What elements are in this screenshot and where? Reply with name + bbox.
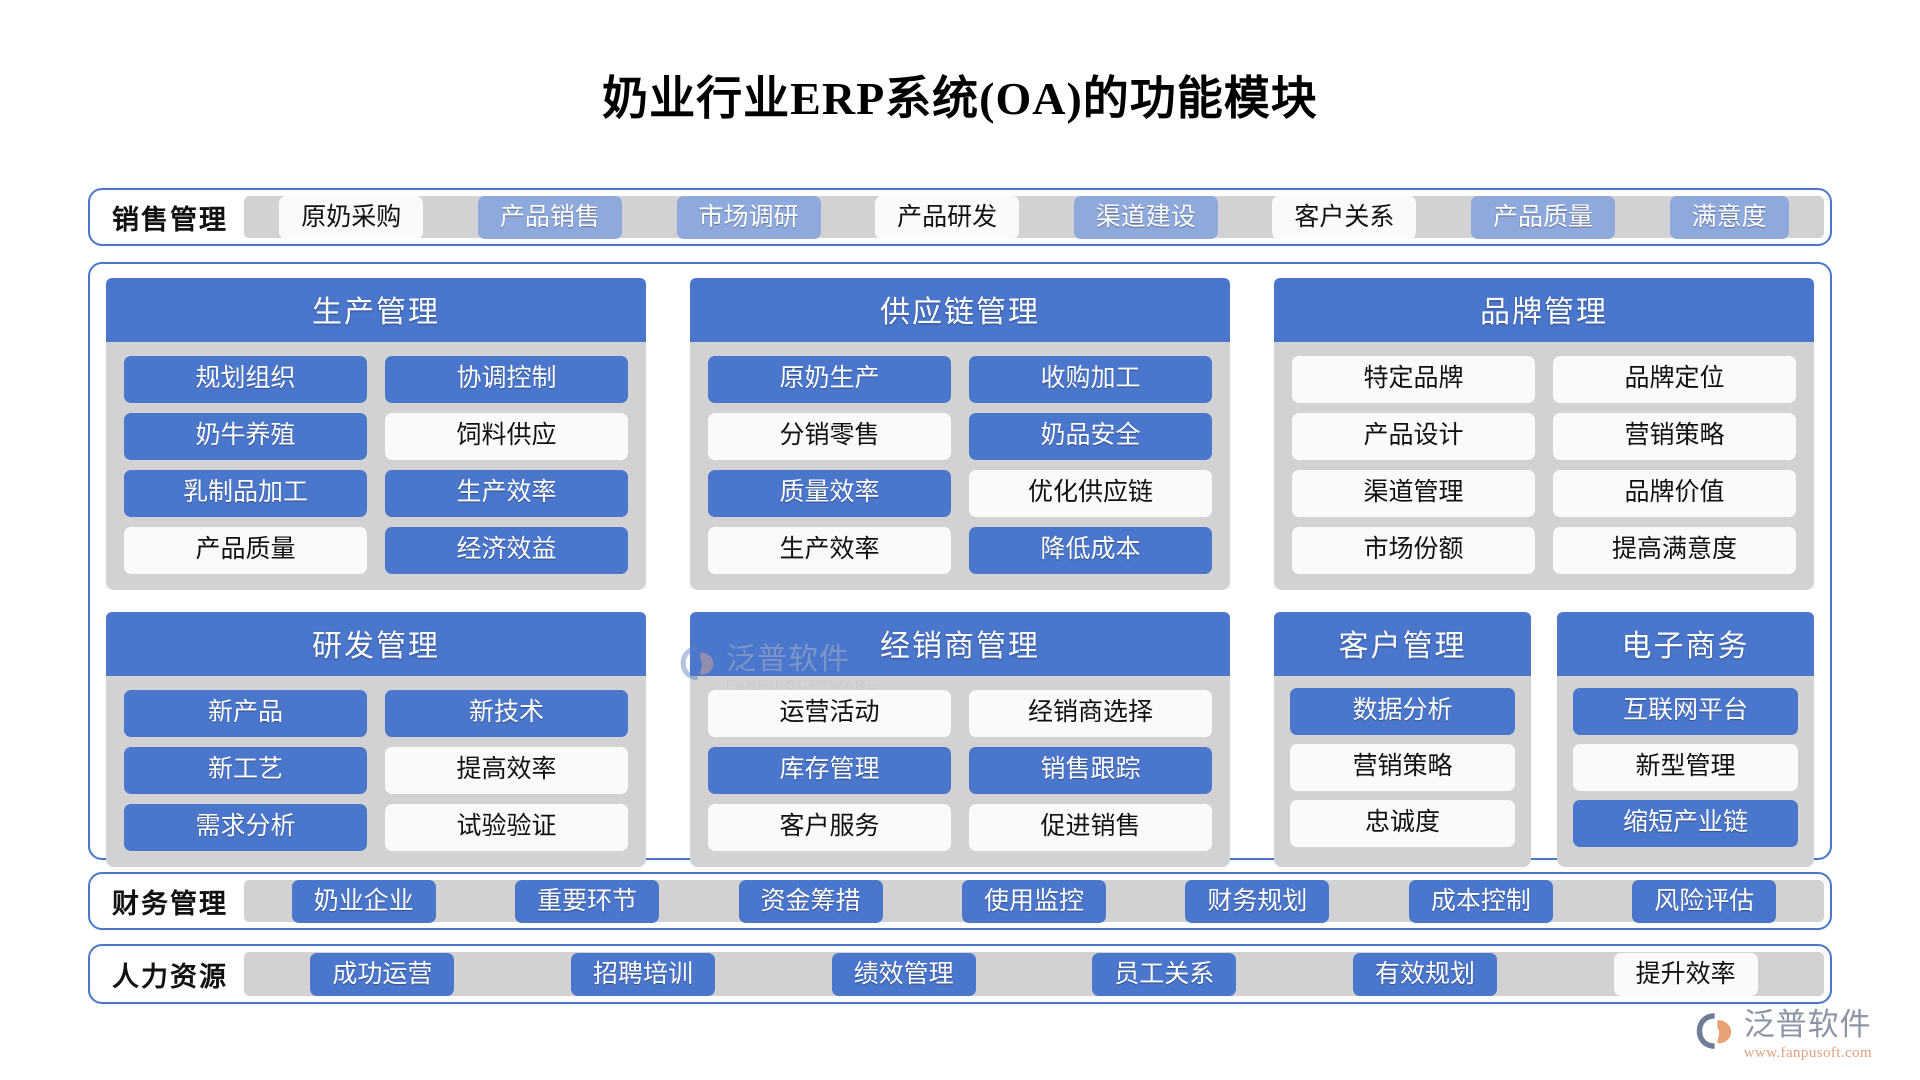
module-item[interactable]: 新产品 xyxy=(124,690,367,737)
module-item[interactable]: 运营活动 xyxy=(708,690,951,737)
chip-item[interactable]: 市场调研 xyxy=(677,196,821,239)
module-item[interactable]: 新型管理 xyxy=(1573,744,1798,791)
module-item[interactable]: 数据分析 xyxy=(1290,688,1515,735)
module-item[interactable]: 品牌价值 xyxy=(1553,470,1796,517)
module-item[interactable]: 需求分析 xyxy=(124,804,367,851)
module-item[interactable]: 新技术 xyxy=(385,690,628,737)
module-item[interactable]: 饲料供应 xyxy=(385,413,628,460)
module-item[interactable]: 原奶生产 xyxy=(708,356,951,403)
module-item[interactable]: 品牌定位 xyxy=(1553,356,1796,403)
module-item[interactable]: 经销商选择 xyxy=(969,690,1212,737)
finance-chip-track: 奶业企业重要环节资金筹措使用监控财务规划成本控制风险评估 xyxy=(244,880,1824,922)
chip-item[interactable]: 奶业企业 xyxy=(292,880,436,923)
module-item[interactable]: 提高效率 xyxy=(385,747,628,794)
module-item[interactable]: 新工艺 xyxy=(124,747,367,794)
chip-item[interactable]: 产品质量 xyxy=(1471,196,1615,239)
sales-management-label: 销售管理 xyxy=(96,198,244,237)
module-customer-items: 数据分析营销策略忠诚度 xyxy=(1274,676,1531,867)
human-resources-row: 人力资源 成功运营招聘培训绩效管理员工关系有效规划提升效率 xyxy=(88,944,1832,1004)
module-dealer-items: 运营活动经销商选择库存管理销售跟踪客户服务促进销售 xyxy=(690,676,1230,867)
module-item[interactable]: 生产效率 xyxy=(385,470,628,517)
module-item[interactable]: 提高满意度 xyxy=(1553,527,1796,574)
module-dealer-title: 经销商管理 xyxy=(690,612,1230,676)
module-dealer: 经销商管理 运营活动经销商选择库存管理销售跟踪客户服务促进销售 xyxy=(690,612,1230,867)
chip-item[interactable]: 财务规划 xyxy=(1185,880,1329,923)
module-item[interactable]: 乳制品加工 xyxy=(124,470,367,517)
fanpu-logo: 泛普软件 www.fanpusoft.com xyxy=(1694,999,1872,1062)
module-item[interactable]: 产品设计 xyxy=(1292,413,1535,460)
module-supply-chain-title: 供应链管理 xyxy=(690,278,1230,342)
module-production: 生产管理 规划组织协调控制奶牛养殖饲料供应乳制品加工生产效率产品质量经济效益 xyxy=(106,278,646,590)
module-item[interactable]: 互联网平台 xyxy=(1573,688,1798,735)
module-supply-chain: 供应链管理 原奶生产收购加工分销零售奶品安全质量效率优化供应链生产效率降低成本 xyxy=(690,278,1230,590)
module-item[interactable]: 营销策略 xyxy=(1553,413,1796,460)
chip-item[interactable]: 提升效率 xyxy=(1614,953,1758,996)
module-item[interactable]: 促进销售 xyxy=(969,804,1212,851)
module-rnd-title: 研发管理 xyxy=(106,612,646,676)
module-item[interactable]: 奶牛养殖 xyxy=(124,413,367,460)
module-brand: 品牌管理 特定品牌品牌定位产品设计营销策略渠道管理品牌价值市场份额提高满意度 xyxy=(1274,278,1814,590)
sales-chip-track: 原奶采购产品销售市场调研产品研发渠道建设客户关系产品质量满意度 xyxy=(244,196,1824,238)
module-item[interactable]: 渠道管理 xyxy=(1292,470,1535,517)
module-item[interactable]: 降低成本 xyxy=(969,527,1212,574)
chip-item[interactable]: 绩效管理 xyxy=(832,953,976,996)
module-item[interactable]: 营销策略 xyxy=(1290,744,1515,791)
logo-url: www.fanpusoft.com xyxy=(1744,1045,1872,1062)
module-item[interactable]: 生产效率 xyxy=(708,527,951,574)
finance-management-row: 财务管理 奶业企业重要环节资金筹措使用监控财务规划成本控制风险评估 xyxy=(88,872,1832,930)
page-title: 奶业行业ERP系统(OA)的功能模块 xyxy=(0,0,1920,128)
module-item[interactable]: 质量效率 xyxy=(708,470,951,517)
module-brand-title: 品牌管理 xyxy=(1274,278,1814,342)
module-ecommerce-title: 电子商务 xyxy=(1557,612,1814,676)
module-item[interactable]: 特定品牌 xyxy=(1292,356,1535,403)
chip-item[interactable]: 客户关系 xyxy=(1272,196,1416,239)
chip-item[interactable]: 原奶采购 xyxy=(279,196,423,239)
module-production-items: 规划组织协调控制奶牛养殖饲料供应乳制品加工生产效率产品质量经济效益 xyxy=(106,342,646,590)
module-item[interactable]: 协调控制 xyxy=(385,356,628,403)
chip-item[interactable]: 产品销售 xyxy=(478,196,622,239)
module-customer: 客户管理 数据分析营销策略忠诚度 xyxy=(1274,612,1531,867)
module-production-title: 生产管理 xyxy=(106,278,646,342)
core-modules-panel: 生产管理 规划组织协调控制奶牛养殖饲料供应乳制品加工生产效率产品质量经济效益 供… xyxy=(88,262,1832,860)
finance-management-label: 财务管理 xyxy=(96,882,244,921)
chip-item[interactable]: 招聘培训 xyxy=(571,953,715,996)
module-item[interactable]: 缩短产业链 xyxy=(1573,800,1798,847)
module-item[interactable]: 优化供应链 xyxy=(969,470,1212,517)
slide-root: 奶业行业ERP系统(OA)的功能模块 销售管理 原奶采购产品销售市场调研产品研发… xyxy=(0,0,1920,1080)
fanpu-logo-icon xyxy=(1694,1009,1738,1053)
module-brand-items: 特定品牌品牌定位产品设计营销策略渠道管理品牌价值市场份额提高满意度 xyxy=(1274,342,1814,590)
module-rnd-items: 新产品新技术新工艺提高效率需求分析试验验证 xyxy=(106,676,646,867)
module-pair-customer-ecommerce: 客户管理 数据分析营销策略忠诚度 电子商务 互联网平台新型管理缩短产业链 xyxy=(1274,612,1814,867)
module-ecommerce: 电子商务 互联网平台新型管理缩短产业链 xyxy=(1557,612,1814,867)
logo-company-name: 泛普软件 xyxy=(1744,999,1872,1044)
chip-item[interactable]: 使用监控 xyxy=(962,880,1106,923)
module-item[interactable]: 销售跟踪 xyxy=(969,747,1212,794)
chip-item[interactable]: 满意度 xyxy=(1670,196,1789,239)
chip-item[interactable]: 成本控制 xyxy=(1409,880,1553,923)
module-item[interactable]: 库存管理 xyxy=(708,747,951,794)
module-item[interactable]: 奶品安全 xyxy=(969,413,1212,460)
chip-item[interactable]: 风险评估 xyxy=(1632,880,1776,923)
module-customer-title: 客户管理 xyxy=(1274,612,1531,676)
module-item[interactable]: 试验验证 xyxy=(385,804,628,851)
chip-item[interactable]: 员工关系 xyxy=(1092,953,1236,996)
human-resources-label: 人力资源 xyxy=(96,955,244,994)
chip-item[interactable]: 重要环节 xyxy=(515,880,659,923)
module-item[interactable]: 客户服务 xyxy=(708,804,951,851)
chip-item[interactable]: 产品研发 xyxy=(875,196,1019,239)
module-ecommerce-items: 互联网平台新型管理缩短产业链 xyxy=(1557,676,1814,867)
hr-chip-track: 成功运营招聘培训绩效管理员工关系有效规划提升效率 xyxy=(244,952,1824,996)
chip-item[interactable]: 资金筹措 xyxy=(739,880,883,923)
sales-management-row: 销售管理 原奶采购产品销售市场调研产品研发渠道建设客户关系产品质量满意度 xyxy=(88,188,1832,246)
module-item[interactable]: 收购加工 xyxy=(969,356,1212,403)
module-item[interactable]: 规划组织 xyxy=(124,356,367,403)
module-item[interactable]: 经济效益 xyxy=(385,527,628,574)
module-supply-chain-items: 原奶生产收购加工分销零售奶品安全质量效率优化供应链生产效率降低成本 xyxy=(690,342,1230,590)
module-item[interactable]: 分销零售 xyxy=(708,413,951,460)
module-item[interactable]: 市场份额 xyxy=(1292,527,1535,574)
chip-item[interactable]: 渠道建设 xyxy=(1074,196,1218,239)
chip-item[interactable]: 成功运营 xyxy=(310,953,454,996)
module-rnd: 研发管理 新产品新技术新工艺提高效率需求分析试验验证 xyxy=(106,612,646,867)
module-item[interactable]: 产品质量 xyxy=(124,527,367,574)
chip-item[interactable]: 有效规划 xyxy=(1353,953,1497,996)
module-item[interactable]: 忠诚度 xyxy=(1290,800,1515,847)
